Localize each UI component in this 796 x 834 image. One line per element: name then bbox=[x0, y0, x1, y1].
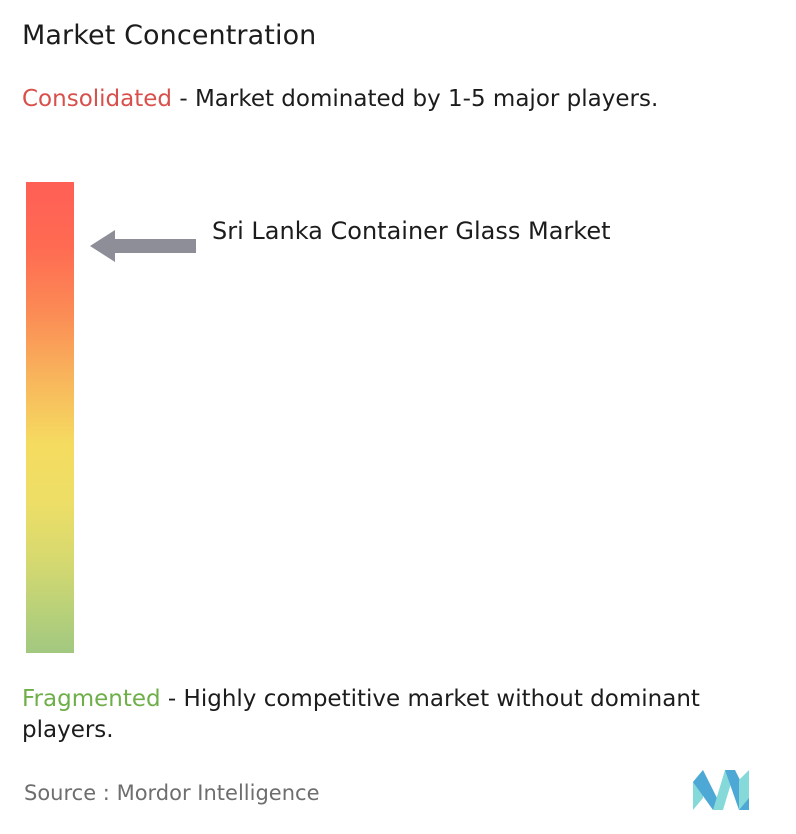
market-pointer: Sri Lanka Container Glass Market bbox=[88, 214, 688, 276]
legend-consolidated: Consolidated - Market dominated by 1-5 m… bbox=[22, 84, 774, 115]
legend-separator-bottom: - bbox=[161, 686, 184, 712]
legend-description-consolidated: Market dominated by 1-5 major players. bbox=[195, 86, 658, 112]
page-title: Market Concentration bbox=[22, 20, 316, 51]
legend-separator-top: - bbox=[172, 86, 195, 112]
market-concentration-infographic: Market Concentration Consolidated - Mark… bbox=[0, 0, 796, 834]
legend-key-consolidated: Consolidated bbox=[22, 86, 172, 112]
concentration-gradient-bar bbox=[26, 182, 74, 653]
source-attribution: Source : Mordor Intelligence bbox=[24, 781, 319, 805]
source-value: Mordor Intelligence bbox=[117, 781, 320, 805]
market-pointer-label: Sri Lanka Container Glass Market bbox=[212, 214, 612, 248]
mordor-intelligence-logo bbox=[693, 770, 749, 810]
legend-fragmented: Fragmented - Highly competitive market w… bbox=[22, 684, 790, 746]
source-label: Source : bbox=[24, 781, 110, 805]
arrow-left-icon bbox=[88, 216, 198, 276]
legend-key-fragmented: Fragmented bbox=[22, 686, 161, 712]
